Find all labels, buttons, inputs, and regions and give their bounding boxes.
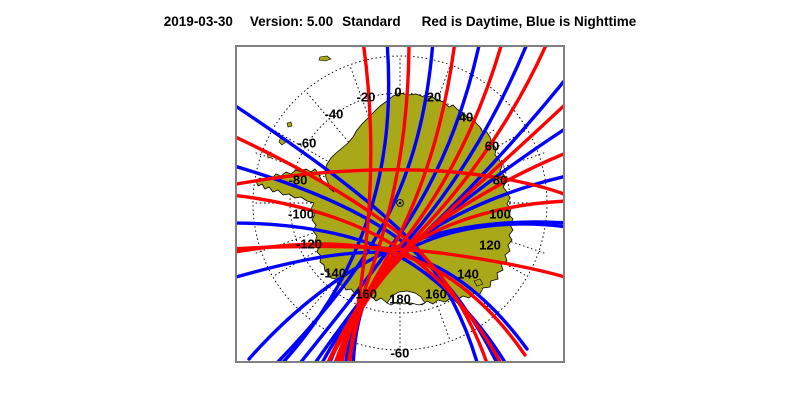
polar-map-frame: [235, 45, 565, 363]
screenshot-root: 2019-03-30 Version: 5.00 Standard Red is…: [0, 0, 800, 400]
page-title: 2019-03-30 Version: 5.00 Standard Red is…: [0, 14, 800, 36]
title-version: Version: 5.00: [250, 14, 333, 29]
polar-map: [237, 47, 563, 361]
title-mode: Standard: [342, 14, 401, 29]
title-legend: Red is Daytime, Blue is Nighttime: [422, 14, 637, 29]
title-date: 2019-03-30: [164, 14, 233, 29]
island-shape: [319, 56, 331, 61]
island-shape: [287, 122, 292, 127]
